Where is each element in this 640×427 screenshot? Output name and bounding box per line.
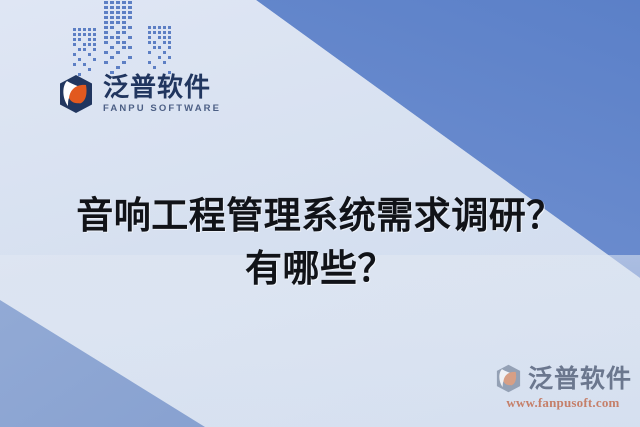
banner-headline: 音响工程管理系统需求调研？ 有哪些？ [0, 189, 640, 295]
fanpu-hexagon-swoosh-logo-icon [56, 74, 96, 114]
dot-matrix-skyline-icon [62, 0, 184, 78]
watermark-url: www.fanpusoft.com [506, 395, 619, 411]
promo-banner: 泛普软件 FANPU SOFTWARE 音响工程管理系统需求调研？ 有哪些？ 泛… [0, 0, 640, 427]
watermark-name-cn: 泛普软件 [528, 366, 632, 391]
fanpu-logo-name-en: FANPU SOFTWARE [103, 104, 221, 114]
watermark-logo-row: 泛普软件 [494, 364, 632, 393]
fanpu-hexagon-swoosh-logo-icon [494, 364, 523, 393]
fanpu-logo-wordmark: 泛普软件 FANPU SOFTWARE [103, 75, 221, 114]
fanpu-logo: 泛普软件 FANPU SOFTWARE [56, 74, 221, 114]
fanpu-watermark: 泛普软件 www.fanpusoft.com [494, 364, 632, 411]
fanpu-logo-name-cn: 泛普软件 [103, 75, 221, 101]
